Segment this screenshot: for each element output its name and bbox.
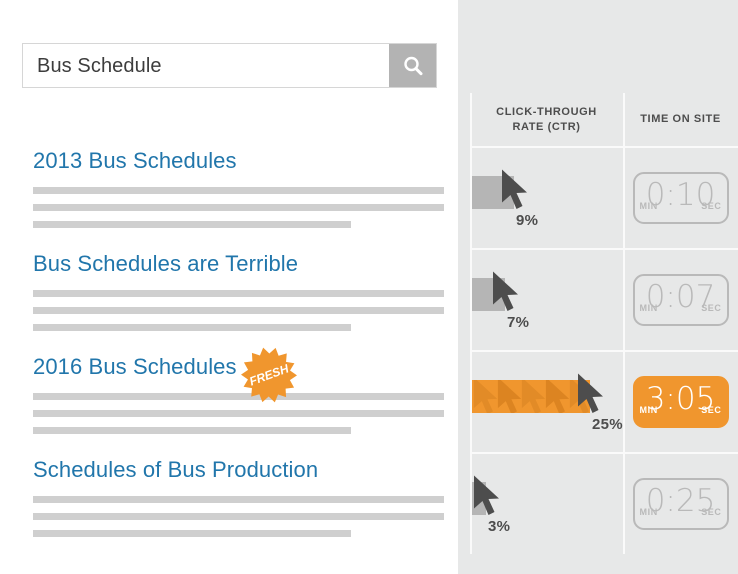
result-title-link[interactable]: Schedules of Bus Production: [33, 457, 318, 483]
result-snippet: [33, 496, 453, 537]
cursor-icon: [500, 168, 530, 212]
snippet-line: [33, 427, 351, 434]
snippet-line: [33, 513, 444, 520]
timer-min-label: MIN: [640, 507, 658, 517]
time-on-site-timer: 0:10MINSEC: [633, 172, 729, 224]
snippet-line: [33, 496, 444, 503]
metrics-table: CLICK-THROUGH RATE (CTR) TIME ON SITE 9%…: [470, 93, 738, 554]
metrics-panel: CLICK-THROUGH RATE (CTR) TIME ON SITE 9%…: [458, 0, 738, 574]
snippet-line: [33, 530, 351, 537]
timer-unit-labels: MINSEC: [640, 201, 722, 211]
result-snippet: [33, 290, 453, 331]
cursor-icon: [576, 372, 606, 416]
time-cell: 0:25MINSEC: [623, 454, 738, 554]
metrics-row: 3%0:25MINSEC: [470, 454, 738, 554]
ctr-cell: 7%: [470, 250, 623, 350]
snippet-line: [33, 204, 444, 211]
column-divider: [623, 352, 625, 452]
metrics-row-wrap: 7%0:07MINSEC: [470, 248, 738, 350]
search-icon: [401, 54, 425, 78]
snippet-line: [33, 307, 444, 314]
search-results-panel: Bus Schedule 2013 Bus SchedulesBus Sched…: [0, 0, 458, 574]
timer-min-label: MIN: [640, 201, 658, 211]
snippet-line: [33, 290, 444, 297]
result-title-link[interactable]: 2013 Bus Schedules: [33, 148, 237, 174]
snippet-line: [33, 393, 444, 400]
timer-unit-labels: MINSEC: [640, 405, 722, 415]
header-ctr: CLICK-THROUGH RATE (CTR): [470, 93, 623, 146]
metrics-row: 7%0:07MINSEC: [470, 250, 738, 350]
infographic-root: Bus Schedule 2013 Bus SchedulesBus Sched…: [0, 0, 738, 574]
timer-min-label: MIN: [640, 405, 658, 415]
result-snippet: [33, 187, 453, 228]
timer-unit-labels: MINSEC: [640, 507, 722, 517]
header-ctr-label: CLICK-THROUGH RATE (CTR): [496, 105, 597, 135]
snippet-line: [33, 221, 351, 228]
fresh-badge-icon: FRESH: [234, 340, 303, 409]
search-result: Bus Schedules are Terrible: [33, 251, 453, 331]
metrics-row: 9%0:10MINSEC: [470, 148, 738, 248]
search-input[interactable]: Bus Schedule: [23, 44, 389, 87]
metrics-row-wrap: 3%0:25MINSEC: [470, 452, 738, 554]
result-title-link[interactable]: 2016 Bus Schedules: [33, 354, 237, 380]
metrics-row: 25%3:05MINSEC: [470, 352, 738, 452]
cursor-icon: [491, 270, 521, 314]
results-list: 2013 Bus SchedulesBus Schedules are Terr…: [33, 148, 453, 547]
ctr-value: 3%: [488, 518, 510, 535]
snippet-line: [33, 324, 351, 331]
cursor-icon: [472, 474, 502, 518]
timer-sec-label: SEC: [701, 303, 721, 313]
result-snippet: [33, 393, 453, 434]
ctr-value: 9%: [516, 212, 538, 229]
time-on-site-timer: 0:07MINSEC: [633, 274, 729, 326]
column-divider: [470, 93, 472, 146]
search-result: 2016 Bus SchedulesFRESH: [33, 354, 453, 434]
column-divider: [623, 93, 625, 146]
cursor-trail: [472, 380, 590, 413]
timer-sec-label: SEC: [701, 405, 721, 415]
ctr-cell: 25%: [470, 352, 623, 452]
timer-sec-label: SEC: [701, 507, 721, 517]
ctr-value: 7%: [507, 314, 529, 331]
ctr-value: 25%: [592, 416, 623, 433]
header-time-label: TIME ON SITE: [640, 112, 721, 127]
column-divider: [623, 454, 625, 554]
header-ctr-line2: RATE (CTR): [512, 121, 580, 133]
search-result: Schedules of Bus Production: [33, 457, 453, 537]
search-button[interactable]: [389, 44, 436, 87]
timer-sec-label: SEC: [701, 201, 721, 211]
snippet-line: [33, 410, 444, 417]
time-cell: 3:05MINSEC: [623, 352, 738, 452]
ctr-cell: 9%: [470, 148, 623, 248]
time-cell: 0:10MINSEC: [623, 148, 738, 248]
header-time: TIME ON SITE: [623, 93, 738, 146]
metrics-row-wrap: 9%0:10MINSEC: [470, 146, 738, 248]
time-on-site-timer: 0:25MINSEC: [633, 478, 729, 530]
time-on-site-timer: 3:05MINSEC: [633, 376, 729, 428]
header-ctr-line1: CLICK-THROUGH: [496, 106, 597, 118]
timer-min-label: MIN: [640, 303, 658, 313]
column-divider: [623, 148, 625, 248]
time-cell: 0:07MINSEC: [623, 250, 738, 350]
search-input-value: Bus Schedule: [37, 56, 162, 76]
ctr-cell: 3%: [470, 454, 623, 554]
column-divider: [623, 250, 625, 350]
metrics-row-wrap: 25%3:05MINSEC: [470, 350, 738, 452]
search-bar[interactable]: Bus Schedule: [22, 43, 437, 88]
metrics-header-row: CLICK-THROUGH RATE (CTR) TIME ON SITE: [470, 93, 738, 146]
snippet-line: [33, 187, 444, 194]
search-result: 2013 Bus Schedules: [33, 148, 453, 228]
metrics-body: 9%0:10MINSEC7%0:07MINSEC25%3:05MINSEC3%0…: [470, 146, 738, 554]
result-title-link[interactable]: Bus Schedules are Terrible: [33, 251, 298, 277]
timer-unit-labels: MINSEC: [640, 303, 722, 313]
